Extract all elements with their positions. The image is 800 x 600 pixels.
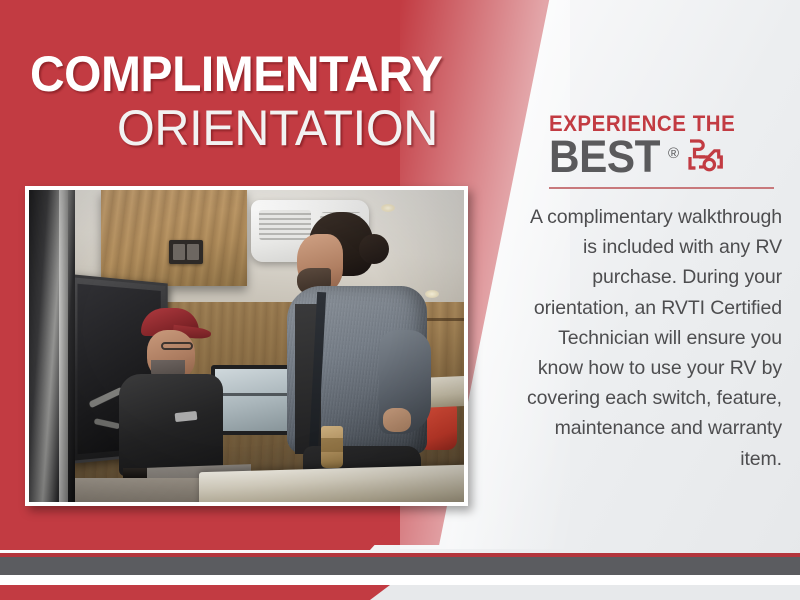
photo-customer-hair-bun bbox=[359, 234, 389, 264]
photo-technician-glasses bbox=[161, 342, 193, 350]
body-paragraph: A complimentary walkthrough is included … bbox=[514, 202, 782, 474]
orientation-photo-frame bbox=[25, 186, 468, 506]
registered-trademark-icon: ® bbox=[668, 146, 679, 161]
headline-primary: COMPLIMENTARY bbox=[30, 48, 422, 100]
photo-downlight-1 bbox=[381, 204, 395, 212]
logo-underline-rule bbox=[549, 187, 774, 189]
orientation-photo bbox=[29, 190, 464, 502]
photo-customer-hand bbox=[383, 408, 411, 432]
bottom-gray-bar bbox=[0, 557, 800, 575]
experience-the-best-logo: EXPERIENCE THE BEST ® bbox=[549, 112, 779, 189]
bottom-red-bar-lower bbox=[0, 585, 390, 600]
photo-technician-shirt bbox=[119, 374, 223, 476]
rv-motorhome-icon bbox=[685, 135, 725, 180]
photo-door-trim bbox=[59, 190, 68, 502]
logo-wordmark: BEST bbox=[549, 134, 660, 179]
photo-door-frame bbox=[29, 190, 75, 502]
photo-cup-sleeve bbox=[321, 438, 343, 452]
headline-secondary: ORIENTATION bbox=[42, 100, 438, 156]
photo-coffee-cup bbox=[321, 426, 343, 468]
photo-switch-plate bbox=[169, 240, 203, 264]
promo-slide: COMPLIMENTARY ORIENTATION bbox=[0, 0, 800, 600]
bottom-white-gap bbox=[0, 575, 800, 585]
page-title: COMPLIMENTARY ORIENTATION bbox=[30, 48, 438, 156]
photo-customer bbox=[287, 212, 435, 502]
logo-wordmark-row: BEST ® bbox=[549, 134, 779, 180]
bottom-red-bar-upper bbox=[0, 528, 390, 550]
photo-ceiling-cabinet bbox=[101, 190, 247, 286]
